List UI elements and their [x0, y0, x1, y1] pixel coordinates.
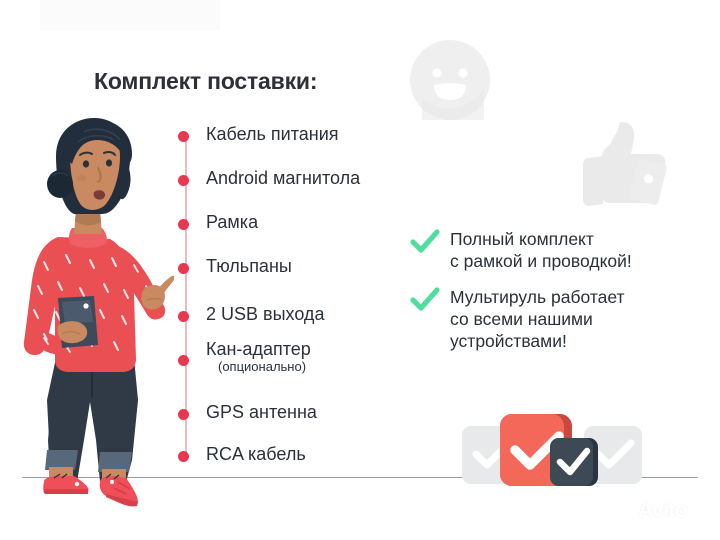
list-item: 2 USB выхода — [178, 306, 418, 328]
bullet-dot-icon — [178, 219, 189, 230]
list-item-label: 2 USB выхода — [206, 303, 324, 325]
bullet-dot-icon — [178, 175, 189, 186]
list-item: RCA кабель — [178, 446, 418, 468]
bullet-dot-icon — [178, 311, 189, 322]
checkbox-cards-group — [462, 406, 642, 498]
list-item: Рамка — [178, 214, 418, 236]
benefit-text: Мультируль работает со всеми нашими устр… — [450, 287, 625, 351]
smiley-face-icon — [408, 38, 492, 122]
green-check-icon — [410, 229, 440, 255]
benefits-list: Полный комплект с рамкой и проводкой! Му… — [410, 228, 695, 366]
list-item-label: Тюльпаны — [206, 255, 292, 277]
list-item-label: RCA кабель — [206, 443, 306, 465]
list-item-label: GPS антенна — [206, 401, 317, 423]
list-item: Кабель питания — [178, 126, 418, 148]
background-smudge — [40, 0, 220, 30]
page-title: Комплект поставки: — [94, 68, 317, 95]
list-item-sublabel: (опционально) — [218, 359, 306, 375]
bullet-dot-icon — [178, 263, 189, 274]
list-item-label: Рамка — [206, 211, 258, 233]
bullet-dot-icon — [178, 451, 189, 462]
benefit-item: Мультируль работает со всеми нашими устр… — [410, 286, 695, 352]
woman-pointing-illustration — [14, 110, 174, 510]
bullet-dot-icon — [178, 409, 189, 420]
poster-canvas: Комплект поставки: Кабель питания Androi… — [0, 0, 720, 540]
benefit-text: Полный комплект с рамкой и проводкой! — [450, 229, 632, 271]
list-item: Кан-адаптер (опционально) — [178, 350, 418, 372]
avito-watermark: Avito — [612, 498, 708, 526]
green-check-icon — [410, 287, 440, 313]
bullet-dot-icon — [178, 131, 189, 142]
list-item: GPS антенна — [178, 404, 418, 426]
list-item: Тюльпаны — [178, 258, 418, 280]
shoes — [43, 474, 138, 506]
checkbox-card-dark — [550, 438, 598, 486]
benefit-item: Полный комплект с рамкой и проводкой! — [410, 228, 695, 272]
kit-list: Кабель питания Android магнитола Рамка Т… — [178, 126, 418, 464]
left-hand — [58, 321, 88, 343]
list-item-label: Кан-адаптер — [206, 338, 311, 360]
watermark-label: Avito — [638, 499, 687, 523]
list-item-label: Android магнитола — [206, 167, 360, 189]
list-item: Android магнитола — [178, 170, 418, 192]
bullet-dot-icon — [178, 355, 189, 366]
list-item-label: Кабель питания — [206, 123, 339, 145]
thumbs-up-icon — [575, 118, 675, 214]
